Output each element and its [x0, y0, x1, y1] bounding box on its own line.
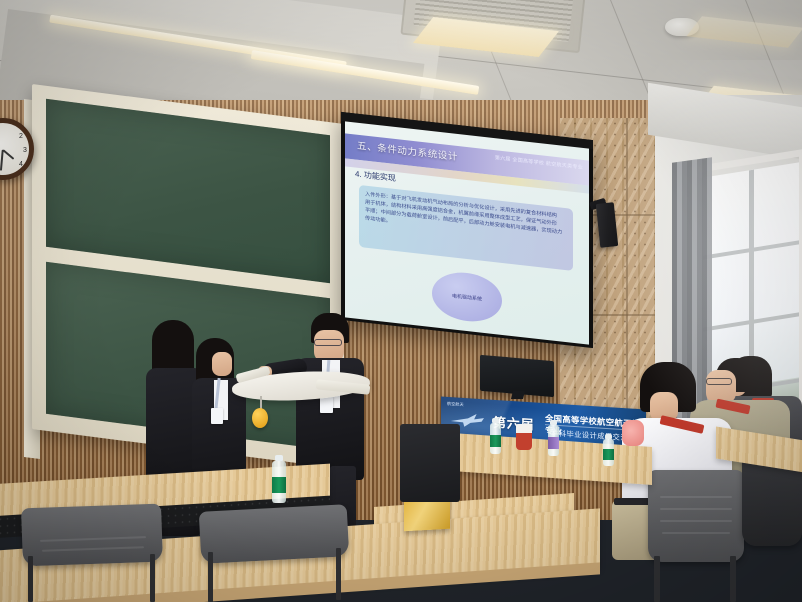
paper-cup[interactable]	[516, 424, 532, 450]
model-motor-pod	[252, 408, 268, 428]
water-bottle-4[interactable]	[603, 434, 614, 466]
water-bottle-3[interactable]	[548, 420, 559, 456]
presentation-slide: 五、条件动力系统设计 第六届 全国高等学校 航空航天类专业 4. 功能实现 入件…	[345, 121, 589, 344]
banner-university-logo: 航空航天	[447, 401, 464, 408]
classroom-photo: 五、条件动力系统设计 第六届 全国高等学校 航空航天类专业 4. 功能实现 入件…	[0, 0, 802, 602]
water-bottle-1[interactable]	[272, 455, 286, 503]
clock-number: 3	[23, 147, 27, 154]
pink-flower-decor	[622, 420, 644, 446]
lectern	[400, 424, 460, 502]
classroom-chair-1[interactable]	[21, 504, 163, 567]
water-bottle-2[interactable]	[490, 418, 501, 454]
clock-number: 4	[19, 161, 23, 168]
badge	[211, 408, 223, 424]
clock-hour-hand	[2, 149, 14, 160]
glasses-icon	[706, 378, 732, 385]
glasses-icon	[314, 339, 342, 346]
clock-number: 2	[19, 133, 23, 140]
badge	[320, 396, 333, 413]
slide-ellipse-label: 电机驱动系统	[452, 292, 482, 302]
slide-diagram-ellipse: 电机驱动系统	[432, 269, 502, 325]
ceiling-panel-light-3	[686, 16, 802, 47]
monitor-stand	[511, 391, 525, 399]
projector-screen: 五、条件动力系统设计 第六届 全国高等学校 航空航天类专业 4. 功能实现 入件…	[341, 112, 593, 348]
audience-chair-1[interactable]	[648, 470, 744, 562]
slide-text-box: 入件外形：基于对飞机发动机气动布局的分析与优化设计，采用先进的复合材料结构 用于…	[359, 185, 573, 271]
clock-minute-hand	[0, 150, 3, 171]
classroom-chair-2[interactable]	[199, 504, 350, 564]
